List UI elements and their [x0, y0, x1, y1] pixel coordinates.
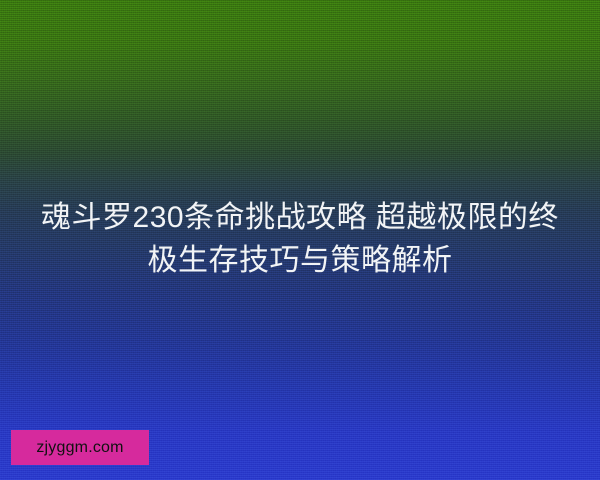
watermark-badge: zjyggm.com — [11, 430, 149, 465]
headline-title: 魂斗罗230条命挑战攻略 超越极限的终极生存技巧与策略解析 — [0, 196, 600, 282]
image-canvas: 魂斗罗230条命挑战攻略 超越极限的终极生存技巧与策略解析 zjyggm.com — [0, 0, 600, 480]
watermark-label: zjyggm.com — [36, 440, 123, 456]
